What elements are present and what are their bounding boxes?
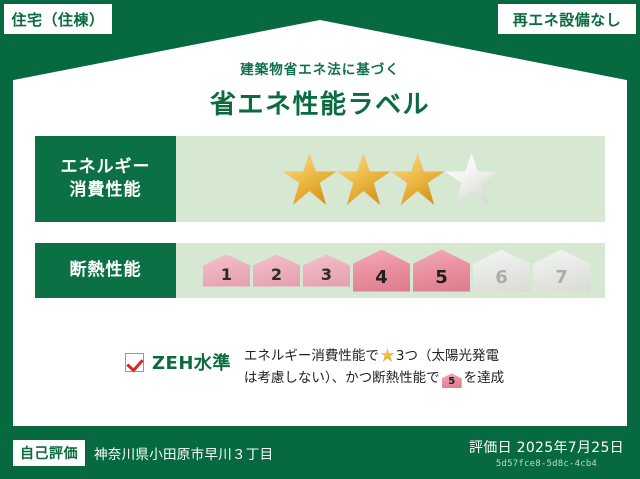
energy-label-line1: エネルギー: [61, 156, 151, 179]
insulation-level-3-number: 3: [321, 265, 332, 287]
zeh-mark: ZEH水準: [125, 345, 231, 375]
insulation-performance-row: 断熱性能 1234567: [35, 243, 605, 298]
insulation-level-5-house-icon: 5: [413, 250, 470, 292]
label-title-block: 建築物省エネ法に基づく 省エネ性能ラベル: [0, 58, 640, 121]
evaluation-id: 5d57fce8-5d8c-4cb4: [469, 459, 624, 469]
insulation-level-2-number: 2: [271, 265, 282, 287]
page-title: 省エネ性能ラベル: [0, 84, 640, 121]
insulation-level-7-number: 7: [555, 267, 568, 292]
inline-star-icon: [380, 348, 395, 362]
star-4-empty-icon: [445, 153, 499, 205]
star-2-filled-icon: [337, 153, 391, 205]
star-1-filled-icon: [283, 153, 337, 205]
insulation-level-1-house-icon: 1: [203, 255, 250, 287]
renewable-energy-tag: 再エネ設備なし: [498, 4, 636, 34]
zeh-desc-line1-b: 3つ（太陽光発電: [396, 348, 499, 364]
inline-house-level-badge: 5: [442, 373, 462, 388]
star-3-filled-icon: [391, 153, 445, 205]
insulation-level-5-number: 5: [435, 267, 448, 292]
footer-right-group: 評価日 2025年7月25日 5d57fce8-5d8c-4cb4: [469, 437, 624, 469]
energy-label-line2: 消費性能: [61, 179, 151, 202]
insulation-level-4-number: 4: [375, 267, 388, 292]
zeh-desc-line1-a: エネルギー消費性能で: [244, 348, 379, 364]
insulation-level-scale: 1234567: [176, 243, 605, 298]
insulation-level-6-house-icon: 6: [473, 250, 530, 292]
insulation-performance-label: 断熱性能: [35, 243, 176, 298]
insulation-level-2-house-icon: 2: [253, 255, 300, 287]
star-rating: [176, 136, 605, 222]
footer-left-group: 自己評価 神奈川県小田原市早川３丁目: [13, 440, 273, 466]
energy-performance-label: 住宅（住棟） 再エネ設備なし 建築物省エネ法に基づく 省エネ性能ラベル エネルギ…: [0, 0, 640, 479]
energy-performance-label: エネルギー 消費性能: [35, 136, 176, 222]
zeh-label: ZEH水準: [152, 349, 231, 375]
insulation-level-4-house-icon: 4: [353, 250, 410, 292]
zeh-checkbox-checked-icon: [125, 353, 144, 372]
zeh-description: エネルギー消費性能で3つ（太陽光発電 は考慮しない）、かつ断熱性能で5を達成: [244, 345, 595, 390]
insulation-level-7-house-icon: 7: [533, 250, 590, 292]
building-type-tag: 住宅（住棟）: [4, 4, 112, 34]
label-footer: 自己評価 神奈川県小田原市早川３丁目 評価日 2025年7月25日 5d57fc…: [0, 426, 640, 479]
energy-performance-row: エネルギー 消費性能: [35, 136, 605, 222]
zeh-desc-line2-a: は考慮しない）、かつ断熱性能で: [244, 370, 440, 386]
insulation-level-6-number: 6: [495, 267, 508, 292]
insulation-level-1-number: 1: [221, 265, 232, 287]
insulation-level-3-house-icon: 3: [303, 255, 350, 287]
property-address: 神奈川県小田原市早川３丁目: [94, 443, 273, 463]
evaluation-method-badge: 自己評価: [13, 440, 85, 466]
evaluation-date: 評価日 2025年7月25日: [469, 437, 624, 457]
title-subtitle: 建築物省エネ法に基づく: [0, 58, 640, 78]
zeh-standard-block: ZEH水準 エネルギー消費性能で3つ（太陽光発電 は考慮しない）、かつ断熱性能で…: [125, 345, 595, 390]
zeh-desc-line2-b: を達成: [464, 370, 505, 386]
